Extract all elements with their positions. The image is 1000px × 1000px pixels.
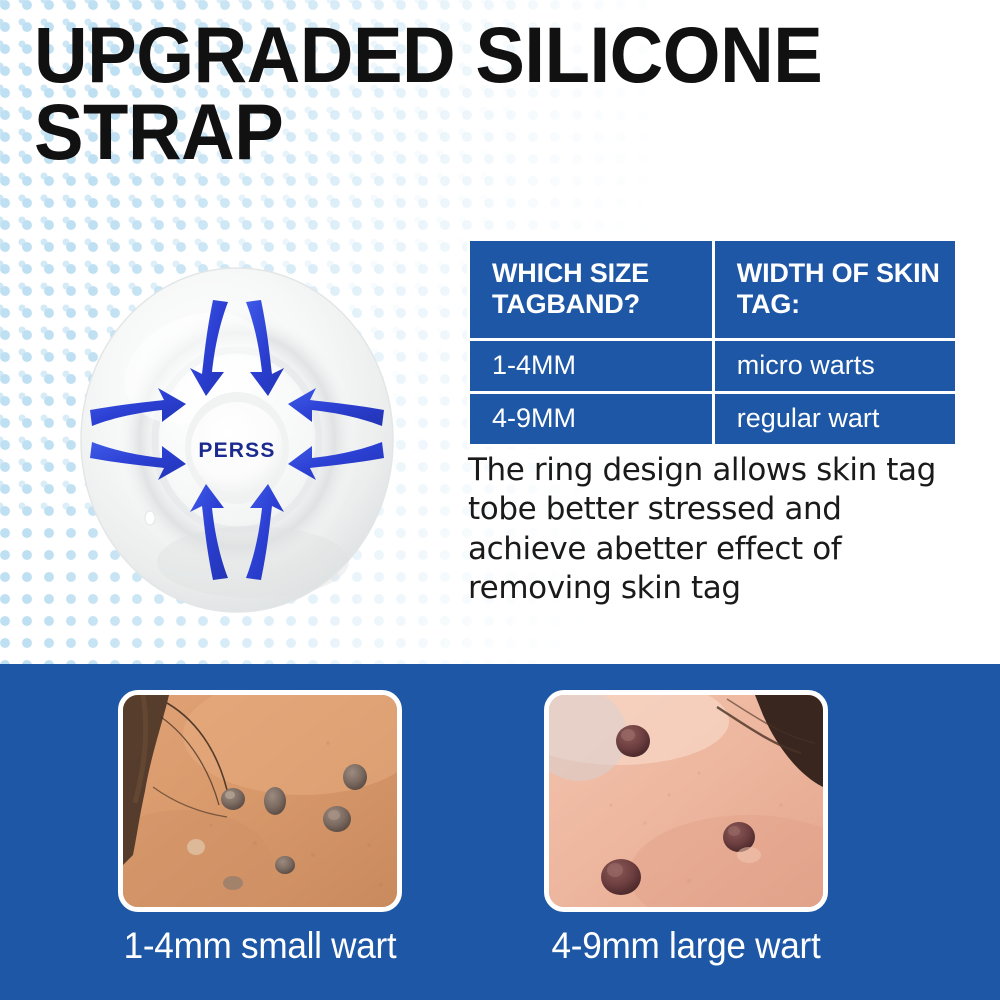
table-header-size: WHICH SIZE TAGBAND? — [470, 241, 712, 338]
table-header-row: WHICH SIZE TAGBAND? WIDTH OF SKIN TAG: — [470, 241, 955, 338]
product-brand-label: PERSS — [78, 439, 396, 463]
cell-size-small: 1-4MM — [470, 341, 712, 391]
skin-photo-large-wart — [549, 695, 823, 907]
size-guide-table: WHICH SIZE TAGBAND? WIDTH OF SKIN TAG: 1… — [467, 238, 958, 447]
caption-small-wart: 1-4mm small wart — [118, 925, 403, 967]
infographic-page: UPGRADED SILICONE STRAP — [0, 0, 1000, 1000]
cell-width-small: micro warts — [715, 341, 955, 391]
cell-size-large: 4-9MM — [470, 394, 712, 444]
wart-photo-small — [118, 690, 402, 912]
table-row: 1-4MM micro warts — [470, 341, 955, 391]
skin-photo-small-wart — [123, 695, 397, 907]
product-description: The ring design allows skin tag tobe bet… — [468, 451, 938, 608]
page-title: UPGRADED SILICONE STRAP — [34, 17, 918, 170]
caption-large-wart: 4-9mm large wart — [544, 925, 829, 967]
wart-photo-large — [544, 690, 828, 912]
table-header-width: WIDTH OF SKIN TAG: — [715, 241, 955, 338]
product-device-illustration: PERSS — [78, 262, 396, 620]
cell-width-large: regular wart — [715, 394, 955, 444]
table-row: 4-9MM regular wart — [470, 394, 955, 444]
